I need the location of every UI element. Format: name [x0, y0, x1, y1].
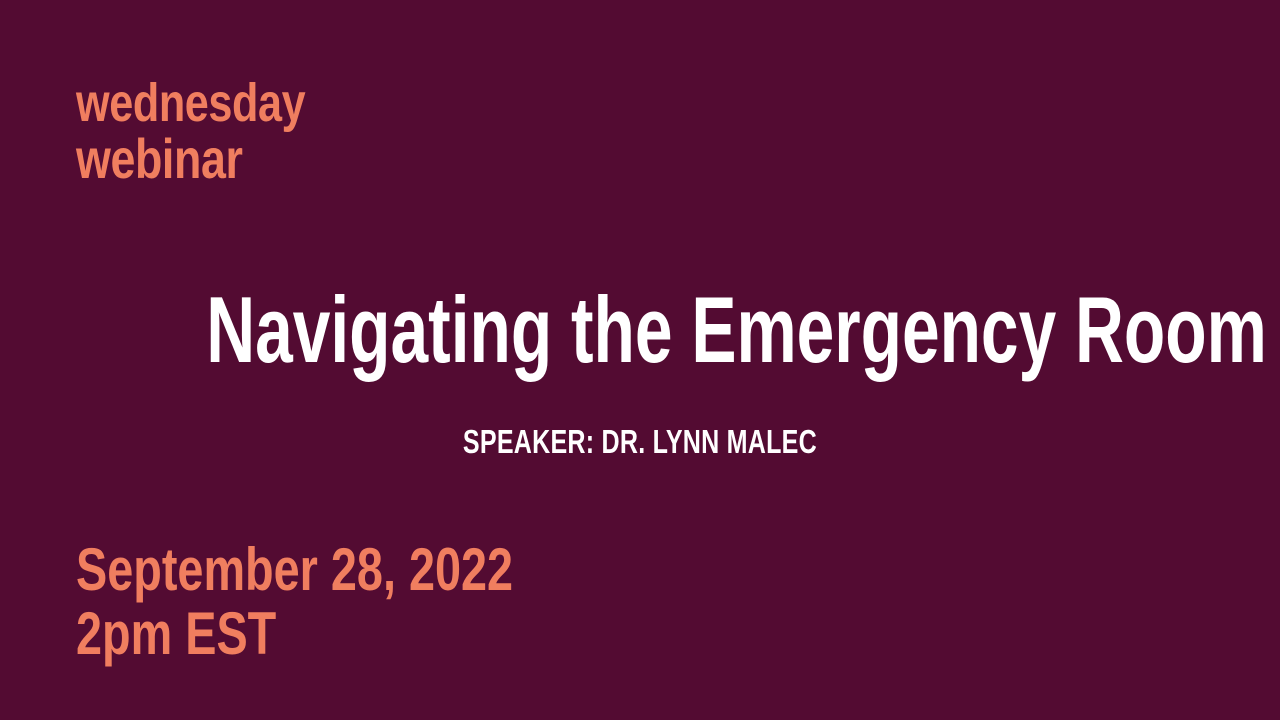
title-block: Navigating the Emergency Room: [0, 283, 1280, 377]
event-time: 2pm EST: [76, 604, 513, 664]
brand-line-webinar: webinar: [76, 131, 305, 187]
speaker-block: SPEAKER: DR. LYNN MALEC: [0, 425, 1280, 458]
brand-line-wednesday: wednesday: [76, 76, 305, 130]
page-title: Navigating the Emergency Room: [206, 283, 1267, 377]
event-date: September 28, 2022: [76, 540, 513, 600]
speaker-label: SPEAKER: DR. LYNN MALEC: [463, 425, 817, 458]
schedule-block: September 28, 2022 2pm EST: [76, 540, 636, 664]
webinar-title-slide: wednesday webinar Navigating the Emergen…: [0, 0, 1280, 720]
brand-lockup: wednesday webinar: [76, 76, 363, 187]
